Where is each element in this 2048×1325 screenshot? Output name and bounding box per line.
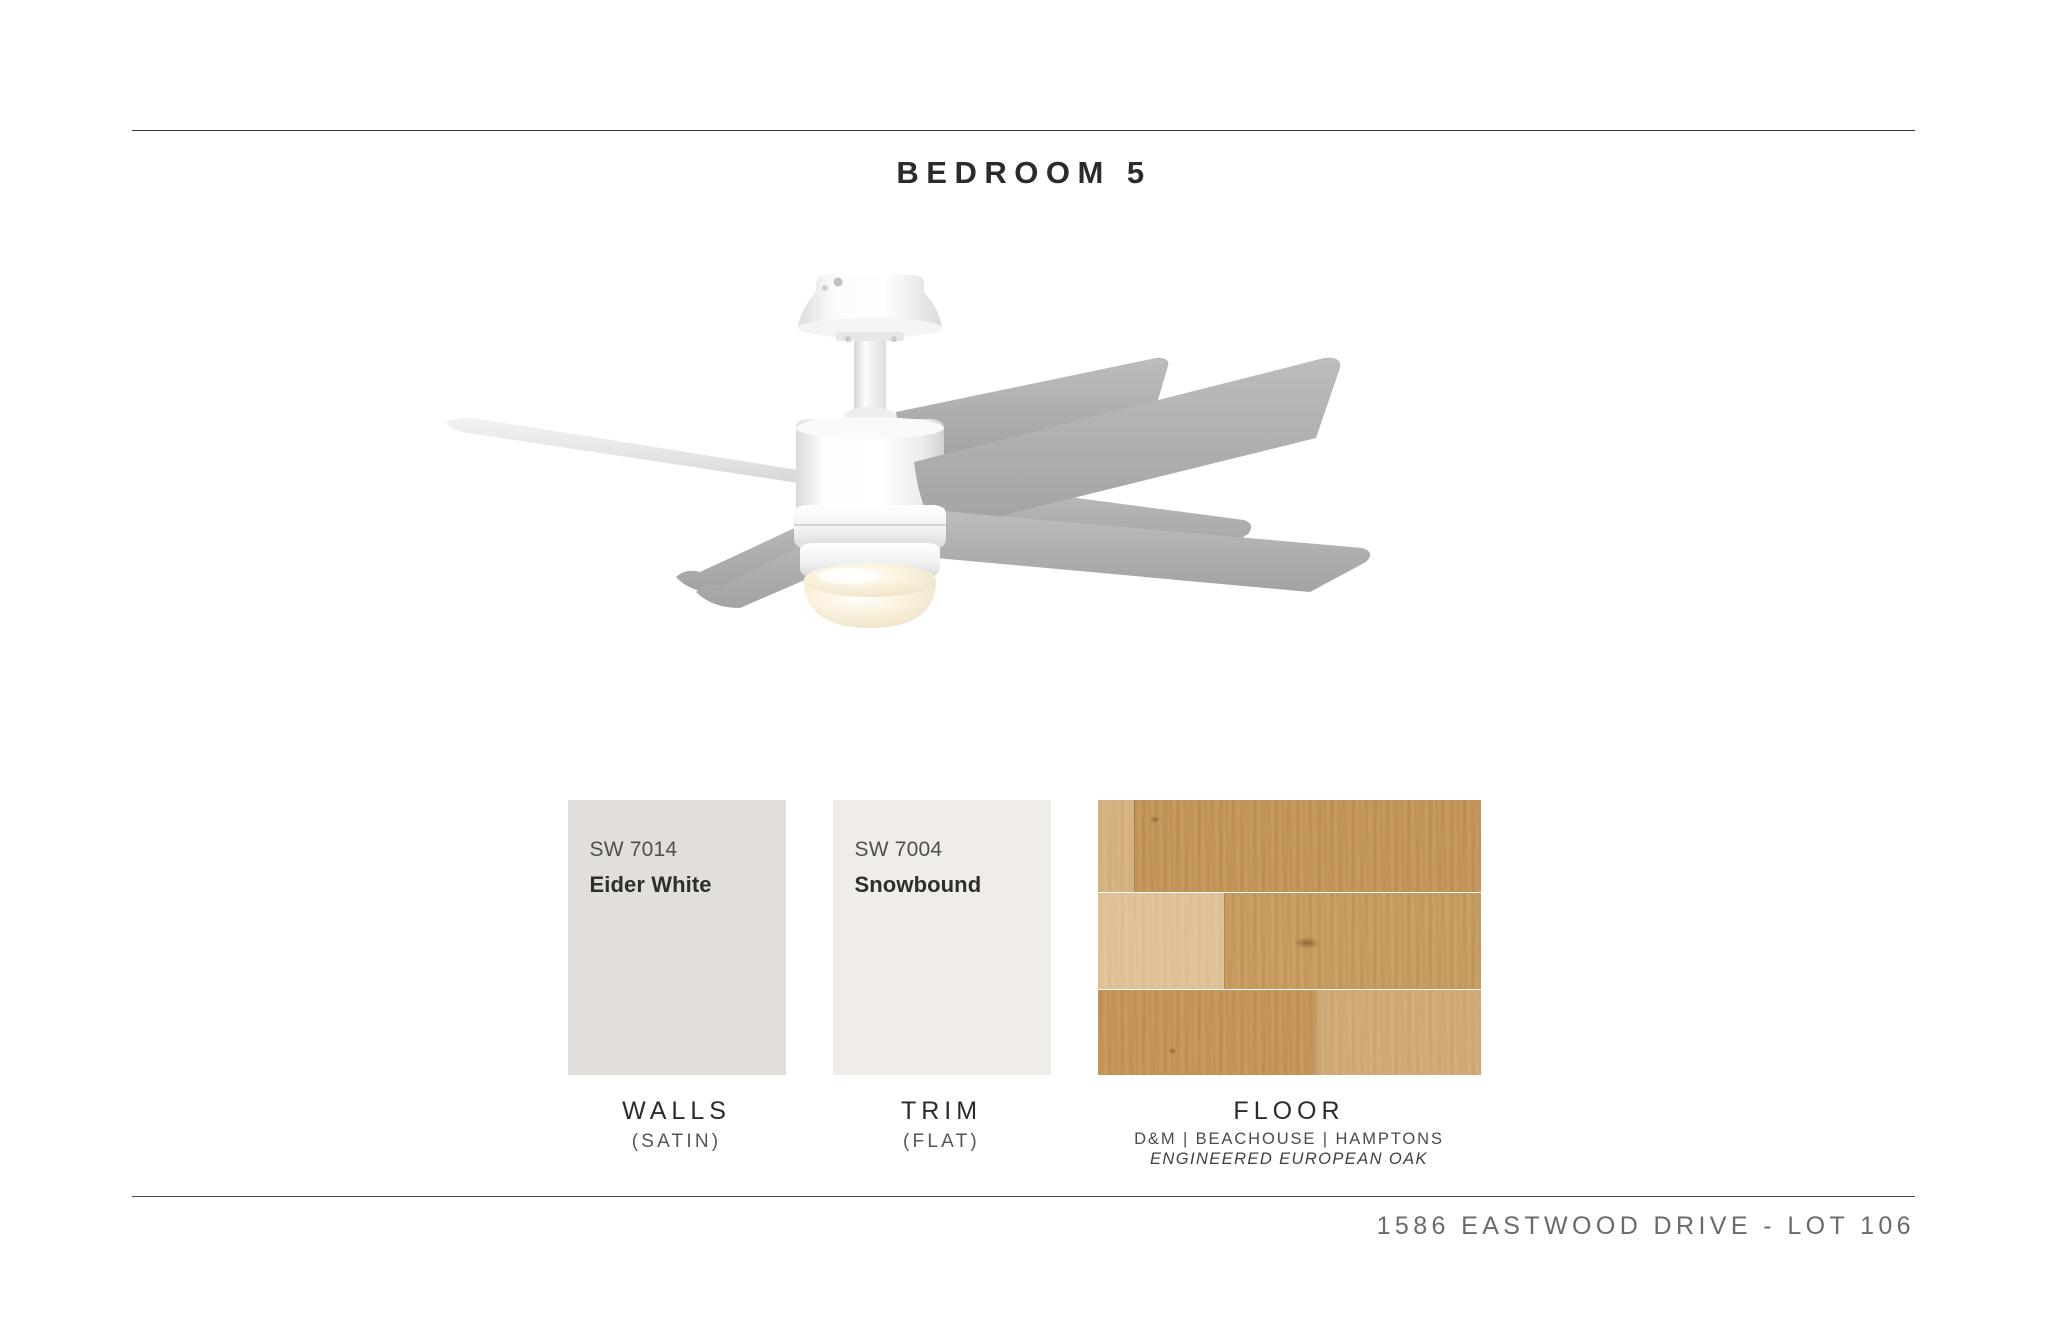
ceiling-fan-illustration — [444, 262, 1604, 732]
caption-label-floor: FLOOR — [1134, 1097, 1444, 1126]
header-divider — [132, 130, 1915, 131]
floor-plank — [1098, 893, 1481, 989]
caption-walls: WALLS (SATIN) — [622, 1097, 731, 1153]
caption-label-walls: WALLS — [622, 1097, 731, 1126]
material-floor: FLOOR D&M | BEACHOUSE | HAMPTONS ENGINEE… — [1098, 800, 1481, 1169]
product-image-ceiling-fan — [0, 262, 2048, 762]
flooring-swatch — [1098, 800, 1481, 1075]
caption-material-floor: ENGINEERED EUROPEAN OAK — [1134, 1150, 1444, 1169]
floor-plank — [1098, 800, 1481, 892]
caption-trim: TRIM (FLAT) — [901, 1097, 982, 1153]
fan-canopy — [798, 275, 942, 342]
material-trim: SW 7004 Snowbound TRIM (FLAT) — [833, 800, 1051, 1153]
footer-address: 1586 EASTWOOD DRIVE - LOT 106 — [0, 1212, 1915, 1241]
material-walls: SW 7014 Eider White WALLS (SATIN) — [568, 800, 786, 1153]
paint-name-walls: Eider White — [590, 872, 712, 898]
fan-light-dome — [804, 563, 936, 628]
page-title: BEDROOM 5 — [0, 155, 2048, 191]
paint-name-trim: Snowbound — [855, 872, 982, 898]
paint-code-walls: SW 7014 — [590, 838, 678, 862]
paint-swatch-walls: SW 7014 Eider White — [568, 800, 786, 1075]
caption-sheen-walls: (SATIN) — [622, 1131, 731, 1153]
caption-spec-floor: D&M | BEACHOUSE | HAMPTONS — [1134, 1130, 1444, 1149]
caption-label-trim: TRIM — [901, 1097, 982, 1126]
paint-code-trim: SW 7004 — [855, 838, 943, 862]
materials-row: SW 7014 Eider White WALLS (SATIN) SW 700… — [0, 800, 2048, 1169]
caption-sheen-trim: (FLAT) — [901, 1131, 982, 1153]
paint-swatch-trim: SW 7004 Snowbound — [833, 800, 1051, 1075]
floor-plank — [1098, 990, 1481, 1075]
fan-blade-left — [446, 418, 836, 488]
caption-floor: FLOOR D&M | BEACHOUSE | HAMPTONS ENGINEE… — [1134, 1097, 1444, 1169]
footer-divider — [132, 1196, 1915, 1197]
fan-downrod — [844, 341, 896, 422]
